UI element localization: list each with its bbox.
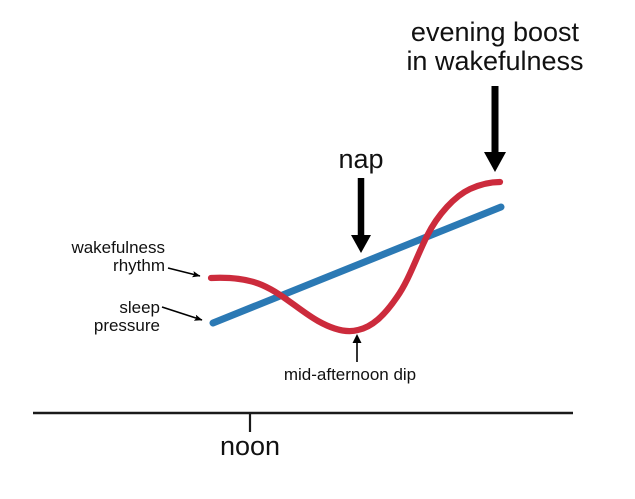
axis-label-noon: noon <box>200 432 300 461</box>
nap-arrow-icon <box>351 178 371 253</box>
sleep-pressure-line <box>213 207 501 323</box>
evening-boost-arrow-icon <box>484 86 506 172</box>
annotation-nap: nap <box>311 145 411 174</box>
annotation-wakefulness-rhythm: wakefulness rhythm <box>10 239 165 275</box>
mid-afternoon-dip-arrow-icon <box>353 334 362 362</box>
annotation-sleep-pressure: sleep pressure <box>10 299 160 335</box>
annotation-evening-boost: evening boost in wakefulness <box>370 18 620 75</box>
circadian-rhythm-figure: evening boost in wakefulness nap wakeful… <box>0 0 635 499</box>
wakefulness-rhythm-leader-icon <box>168 268 200 276</box>
sleep-pressure-leader-icon <box>162 307 202 320</box>
annotation-mid-afternoon-dip: mid-afternoon dip <box>255 366 445 384</box>
